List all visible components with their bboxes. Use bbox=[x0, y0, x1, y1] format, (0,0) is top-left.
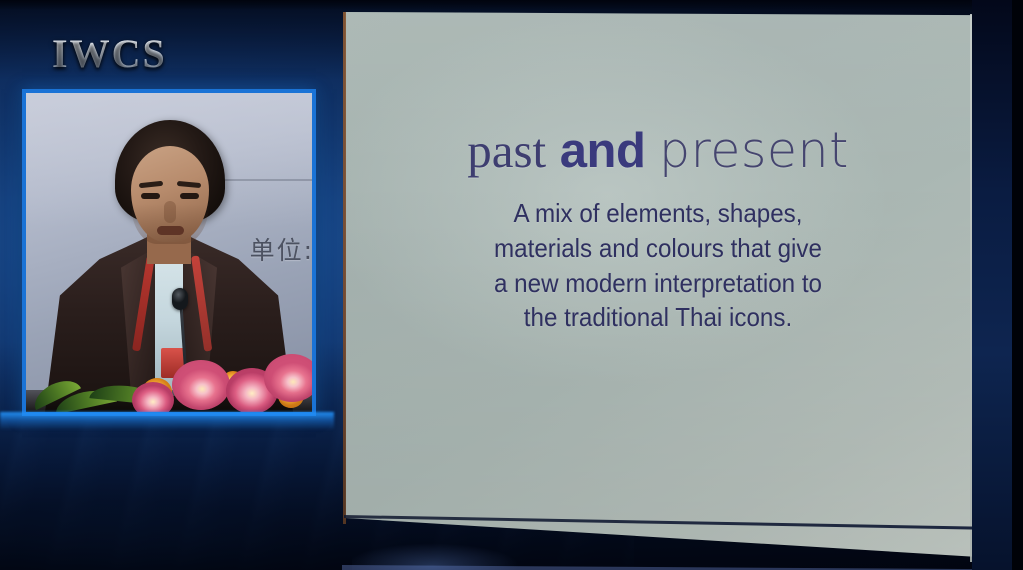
speaker-eyebrow-right bbox=[177, 181, 201, 188]
slide-title-word-and: and bbox=[560, 124, 646, 178]
slide-body-line: a new modern interpretation to bbox=[364, 266, 952, 301]
slide-title-word-present: present bbox=[659, 122, 849, 179]
broadcast-stage: IWCS 单位: bbox=[0, 0, 1023, 570]
pink-lily bbox=[172, 360, 230, 410]
pink-lily bbox=[264, 354, 312, 402]
slide-body-text: A mix of elements, shapes, materials and… bbox=[364, 196, 952, 335]
slide-body-line: the traditional Thai icons. bbox=[364, 300, 952, 335]
speaker-eye-right bbox=[180, 193, 199, 199]
slide-title-word-past: past bbox=[467, 123, 546, 178]
projection-screen: past and present A mix of elements, shap… bbox=[342, 8, 974, 560]
speaker-face-shading bbox=[131, 204, 209, 244]
speaker-eyebrow-left bbox=[139, 181, 163, 188]
speaker-eye-left bbox=[141, 193, 160, 199]
right-wall-pillar bbox=[972, 0, 1012, 570]
right-black-border bbox=[1012, 0, 1023, 570]
slide-body-line: materials and colours that give bbox=[364, 231, 952, 266]
stage-floor-reflection bbox=[352, 526, 552, 570]
speaker-face bbox=[131, 146, 209, 242]
iwcs-logo: IWCS bbox=[52, 34, 167, 74]
slide-title: past and present bbox=[342, 126, 974, 176]
podium-flower-arrangement bbox=[26, 338, 312, 412]
inset-underglow bbox=[0, 412, 334, 430]
slide-body-line: A mix of elements, shapes, bbox=[364, 196, 952, 231]
speaker-video-scene: 单位: bbox=[26, 93, 312, 412]
pink-lily bbox=[132, 382, 174, 412]
slide-content: past and present A mix of elements, shap… bbox=[342, 126, 974, 335]
microphone-head bbox=[172, 288, 188, 310]
speaker-video-inset[interactable]: 单位: bbox=[22, 89, 316, 416]
